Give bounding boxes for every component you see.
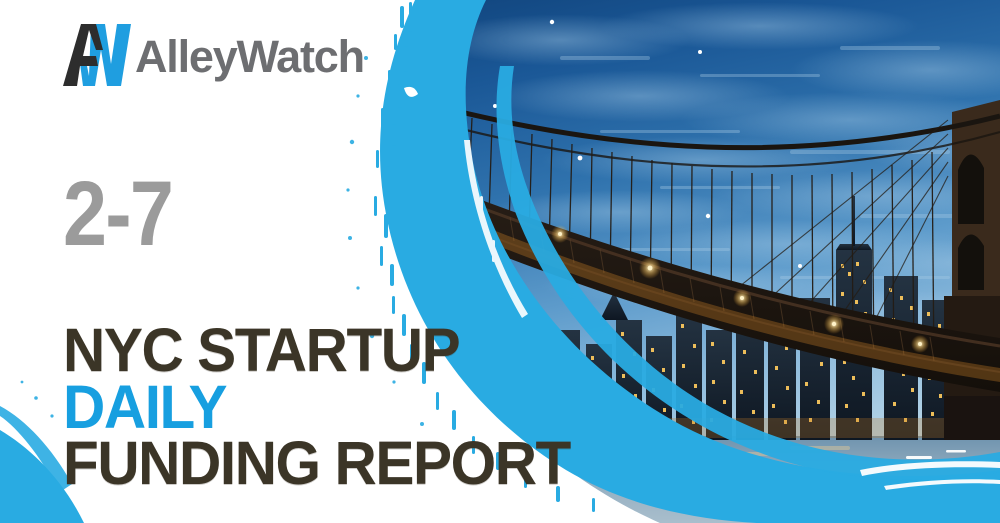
issue-date: 2-7 <box>63 168 172 260</box>
headline-line-3: FUNDING REPORT <box>63 435 570 492</box>
alleywatch-funding-report-banner: AlleyWatch 2-7 NYC STARTUP DAILY FUNDING… <box>0 0 1000 523</box>
alleywatch-wordmark: AlleyWatch <box>135 34 364 79</box>
alleywatch-logo[interactable]: AlleyWatch <box>63 16 364 92</box>
headline-line-1: NYC STARTUP <box>63 322 570 379</box>
headline-line-2: DAILY <box>63 379 570 436</box>
aw-monogram-icon <box>63 16 139 92</box>
page-title: NYC STARTUP DAILY FUNDING REPORT <box>63 322 591 492</box>
